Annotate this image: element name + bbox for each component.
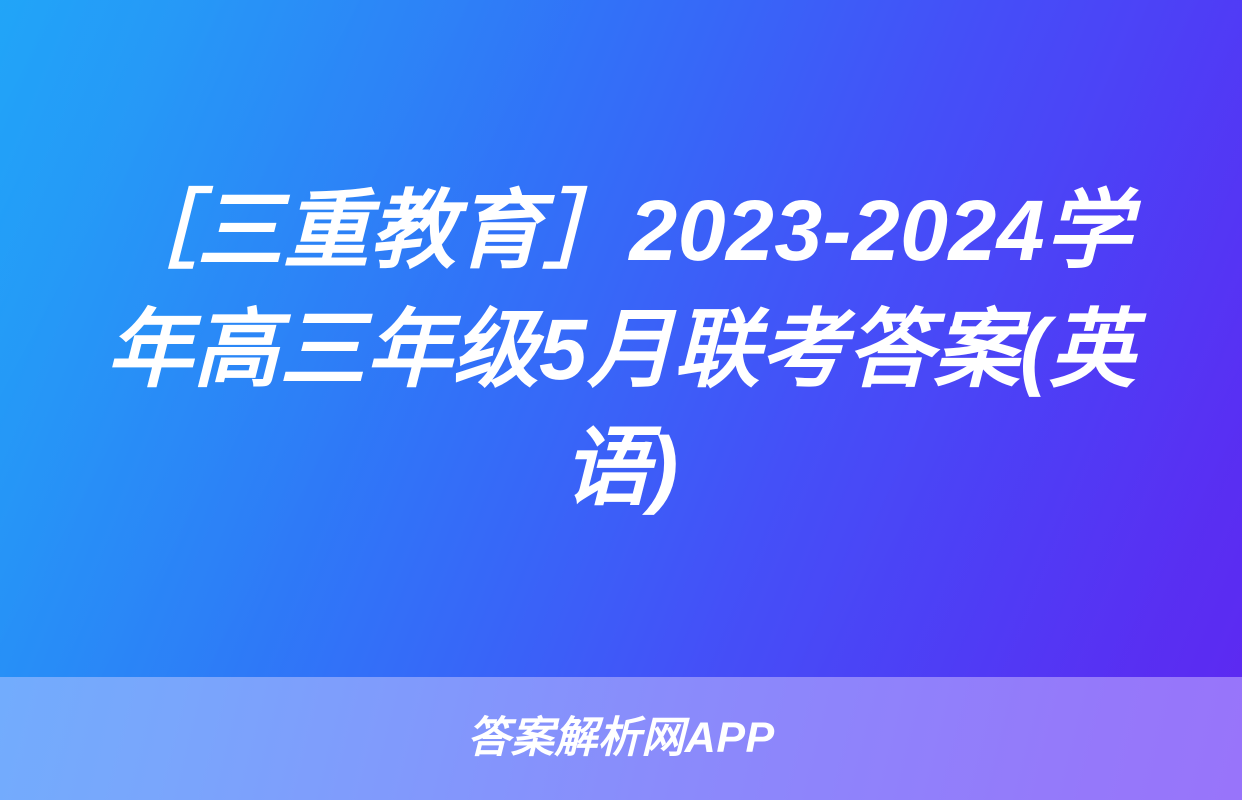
page-title: ［三重教育］2023-2024学年高三年级5月联考答案(英语) (100, 172, 1142, 528)
title-block: ［三重教育］2023-2024学年高三年级5月联考答案(英语) (100, 172, 1142, 528)
footer-band: 答案解析网APP (0, 677, 1242, 800)
poster-canvas: ［三重教育］2023-2024学年高三年级5月联考答案(英语) 答案解析网APP (0, 0, 1242, 800)
hero-banner: ［三重教育］2023-2024学年高三年级5月联考答案(英语) (0, 0, 1242, 677)
brand-watermark: 答案解析网APP (467, 717, 774, 760)
